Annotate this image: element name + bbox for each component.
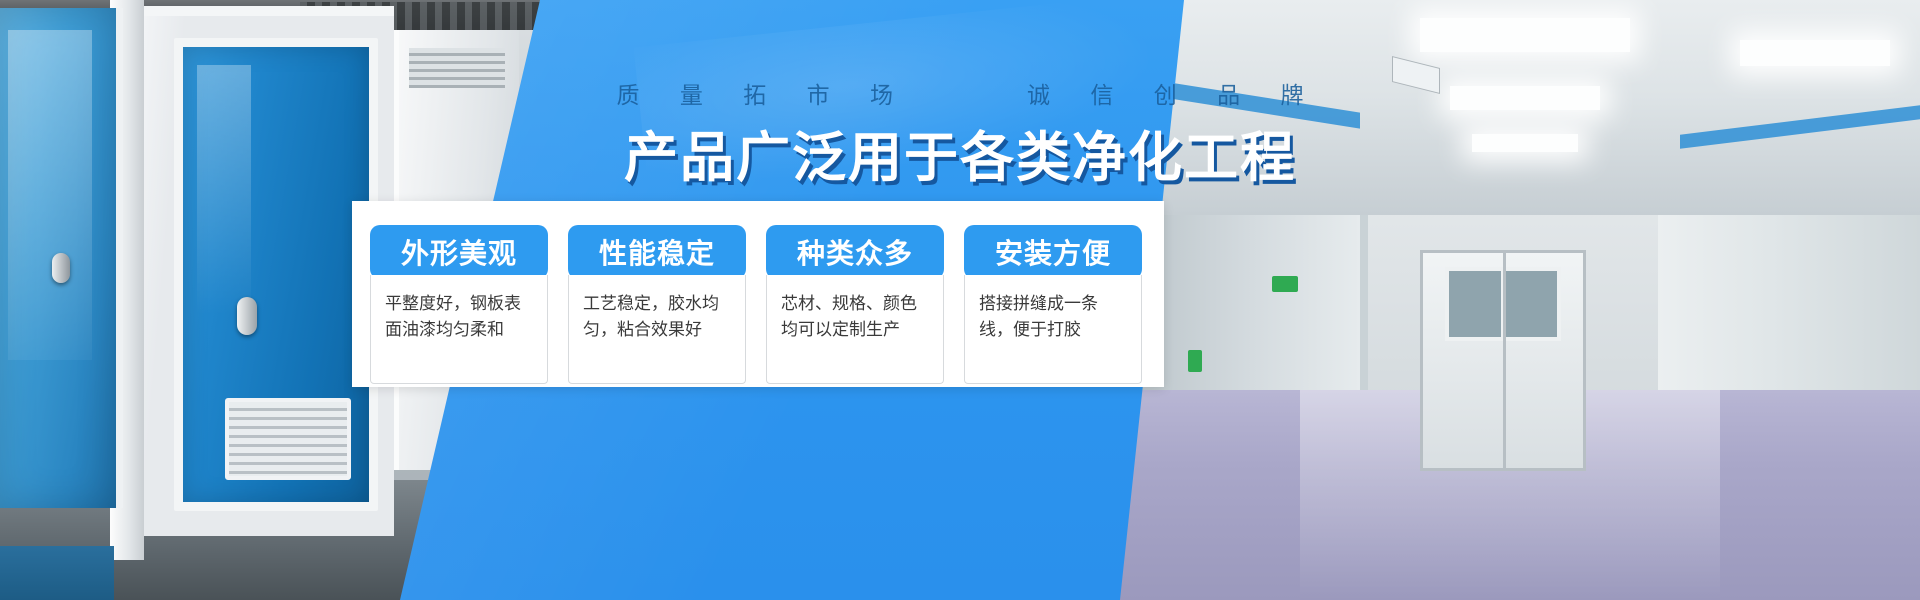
feature-card-title: 性能稳定 — [568, 225, 746, 279]
feature-card-title: 种类众多 — [766, 225, 944, 279]
feature-card[interactable]: 性能稳定工艺稳定，胶水均匀，粘合效果好 — [568, 225, 746, 384]
door-window-left — [1445, 267, 1505, 341]
banner-tagline: 质 量 拓 市 场 诚 信 创 品 牌 — [0, 76, 1920, 110]
ceiling-light-1 — [1420, 18, 1630, 52]
cabin-base — [0, 546, 114, 600]
feature-card-text: 搭接拼缝成一条线，便于打胶 — [964, 275, 1142, 384]
door-vent-louver — [225, 398, 351, 480]
feature-panel: 外形美观平整度好，钢板表面油漆均匀柔和性能稳定工艺稳定，胶水均匀，粘合效果好种类… — [352, 201, 1164, 387]
feature-card-text: 平整度好，钢板表面油漆均匀柔和 — [370, 275, 548, 384]
feature-card-title: 外形美观 — [370, 225, 548, 279]
glass-door-handle — [52, 253, 70, 283]
feature-card[interactable]: 外形美观平整度好，钢板表面油漆均匀柔和 — [370, 225, 548, 384]
cleanroom-double-door — [1420, 250, 1586, 471]
banner-headline: 产品广泛用于各类净化工程 — [0, 113, 1920, 192]
hero-banner: 质 量 拓 市 场 诚 信 创 品 牌 产品广泛用于各类净化工程 外形美观平整度… — [0, 0, 1920, 600]
feature-card-text: 工艺稳定，胶水均匀，粘合效果好 — [568, 275, 746, 384]
feature-card[interactable]: 种类众多芯材、规格、颜色均可以定制生产 — [766, 225, 944, 384]
feature-card[interactable]: 安装方便搭接拼缝成一条线，便于打胶 — [964, 225, 1142, 384]
door-window-right — [1501, 267, 1561, 341]
door-handle — [237, 297, 257, 335]
feature-card-text: 芯材、规格、颜色均可以定制生产 — [766, 275, 944, 384]
feature-card-title: 安装方便 — [964, 225, 1142, 279]
feature-card-list: 外形美观平整度好，钢板表面油漆均匀柔和性能稳定工艺稳定，胶水均匀，粘合效果好种类… — [370, 225, 1142, 384]
exit-sign-icon — [1272, 276, 1298, 292]
wall-marker-icon — [1188, 350, 1202, 372]
ceiling-light-4 — [1740, 40, 1890, 66]
